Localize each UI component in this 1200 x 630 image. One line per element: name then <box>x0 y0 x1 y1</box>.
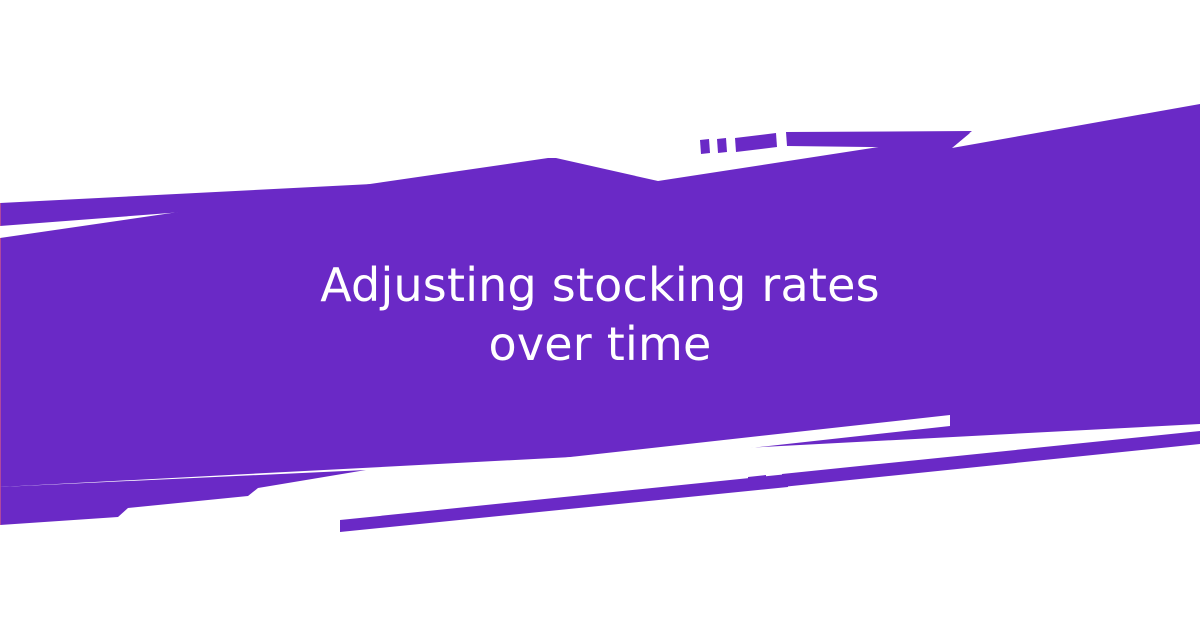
top-dash-tiny-1 <box>700 139 710 154</box>
top-dash-short <box>735 133 777 152</box>
decorative-background-art <box>0 0 1200 630</box>
banner-card: Adjusting stocking rates over time <box>0 0 1200 630</box>
bottom-right-dash <box>748 475 766 490</box>
top-dash-long-tapered <box>786 131 972 148</box>
main-gradient-shape <box>0 104 1200 487</box>
top-dash-tiny-2 <box>717 138 727 153</box>
